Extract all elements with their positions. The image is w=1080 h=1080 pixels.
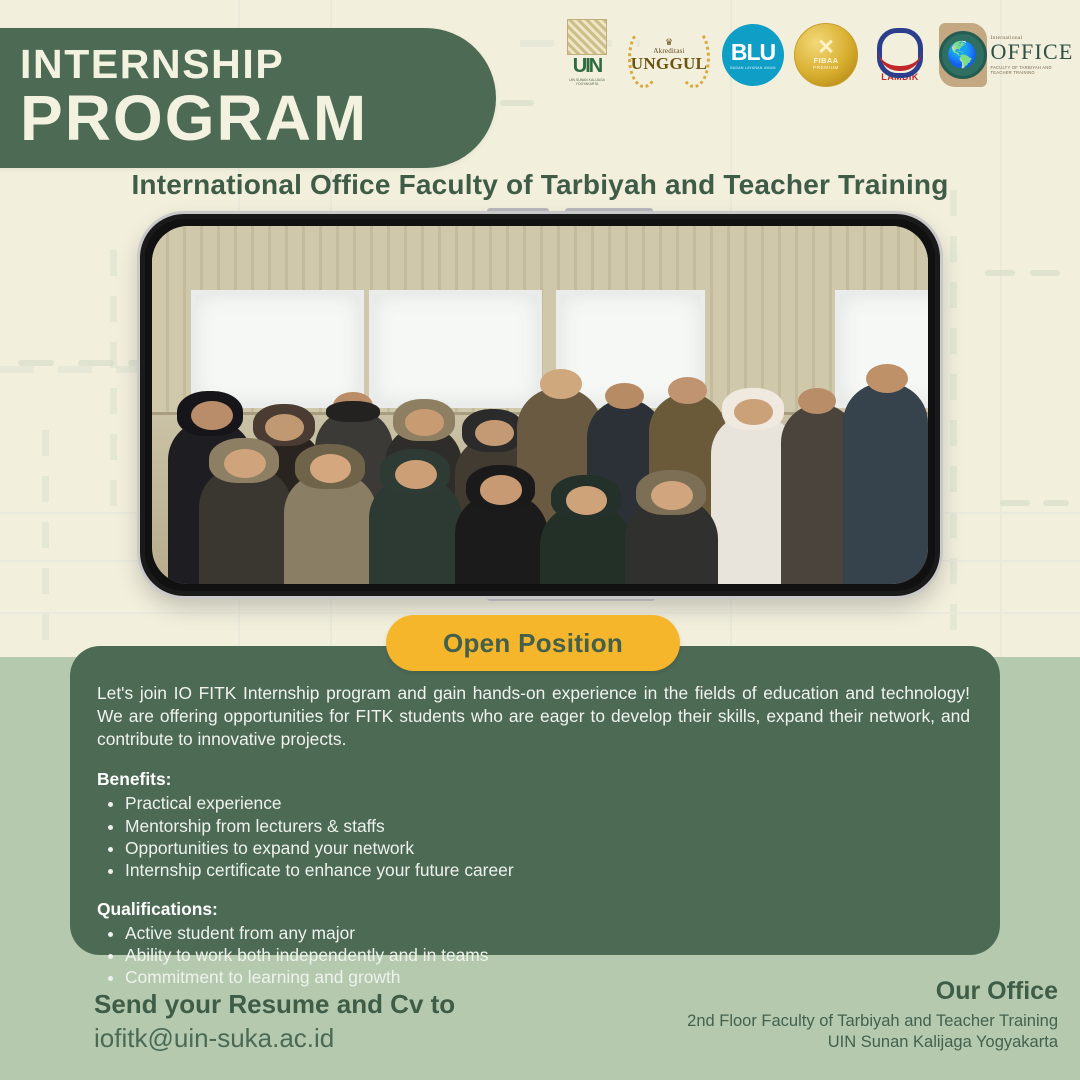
lamdik-q-icon xyxy=(873,28,927,74)
fibaa-title: FIBAA xyxy=(814,56,839,65)
contact-email[interactable]: iofitk@uin-suka.ac.id xyxy=(94,1022,455,1056)
office-big-text: OFFICE xyxy=(991,41,1074,63)
crown-icon: ♛ xyxy=(631,38,707,47)
open-position-button[interactable]: Open Position xyxy=(386,615,680,671)
footer-office: Our Office 2nd Floor Faculty of Tarbiyah… xyxy=(687,978,1058,1053)
fibaa-logo: ✕ FIBAA PREMIUM xyxy=(794,23,858,87)
qualifications-heading: Qualifications: xyxy=(97,899,970,920)
uin-pattern-icon xyxy=(567,19,607,55)
unggul-big-text: UNGGUL xyxy=(631,55,707,72)
content-card: Let's join IO FITK Internship program an… xyxy=(70,646,1000,955)
poster-canvas: INTERNSHIP PROGRAM UIN UIN SUNAN KALIJAG… xyxy=(0,0,1080,1080)
page-subtitle: International Office Faculty of Tarbiyah… xyxy=(0,169,1080,201)
fibaa-bottom-text: PREMIUM xyxy=(813,65,839,70)
title-line-2: PROGRAM xyxy=(20,86,496,151)
akreditasi-unggul-logo: ♛ Akreditasi UNGGUL xyxy=(626,22,712,88)
office-address-line-2: UIN Sunan Kalijaga Yogyakarta xyxy=(687,1032,1058,1053)
uin-arabic-mark: UIN xyxy=(573,56,601,76)
benefits-list: Practical experience Mentorship from lec… xyxy=(97,792,970,880)
blu-subtext: BADAN LAYANAN UMUM xyxy=(730,66,775,70)
fibaa-star-icon: ✕ xyxy=(817,40,835,57)
benefits-heading: Benefits: xyxy=(97,769,970,790)
phone-screen xyxy=(152,226,928,584)
office-subtext: FACULTY OF TARBIYAH AND TEACHER TRAINING xyxy=(991,65,1074,75)
blu-logo: BLU BADAN LAYANAN UMUM xyxy=(722,24,784,86)
international-office-logo: 🌎 International OFFICE FACULTY OF TARBIY… xyxy=(942,21,1070,89)
office-badge-shape: 🌎 xyxy=(939,23,987,87)
intro-paragraph: Let's join IO FITK Internship program an… xyxy=(97,682,970,751)
logo-strip: UIN UIN SUNAN KALIJAGA YOGYAKARTA ♛ Akre… xyxy=(558,18,1070,92)
blu-text: BLU xyxy=(731,41,775,64)
resume-label: Send your Resume and Cv to xyxy=(94,990,455,1020)
lamdik-logo: LAMDIK xyxy=(868,20,932,90)
group-photo xyxy=(152,226,928,584)
uin-caption: UIN SUNAN KALIJAGA YOGYAKARTA xyxy=(560,78,614,87)
title-line-1: INTERNSHIP xyxy=(20,45,496,84)
list-item: Mentorship from lecturers & staffs xyxy=(125,815,970,837)
title-badge: INTERNSHIP PROGRAM xyxy=(0,28,496,168)
list-item: Active student from any major xyxy=(125,922,970,944)
uin-sunan-kalijaga-logo: UIN UIN SUNAN KALIJAGA YOGYAKARTA xyxy=(558,19,616,91)
office-label: Our Office xyxy=(687,978,1058,1006)
phone-mockup xyxy=(140,214,940,596)
list-item: Internship certificate to enhance your f… xyxy=(125,859,970,881)
footer-contact: Send your Resume and Cv to iofitk@uin-su… xyxy=(94,990,455,1056)
list-item: Opportunities to expand your network xyxy=(125,837,970,859)
photo-people xyxy=(152,319,928,584)
list-item: Ability to work both independently and i… xyxy=(125,944,970,966)
globe-icon: 🌎 xyxy=(939,31,987,79)
office-address-line-1: 2nd Floor Faculty of Tarbiyah and Teache… xyxy=(687,1011,1058,1032)
list-item: Practical experience xyxy=(125,792,970,814)
